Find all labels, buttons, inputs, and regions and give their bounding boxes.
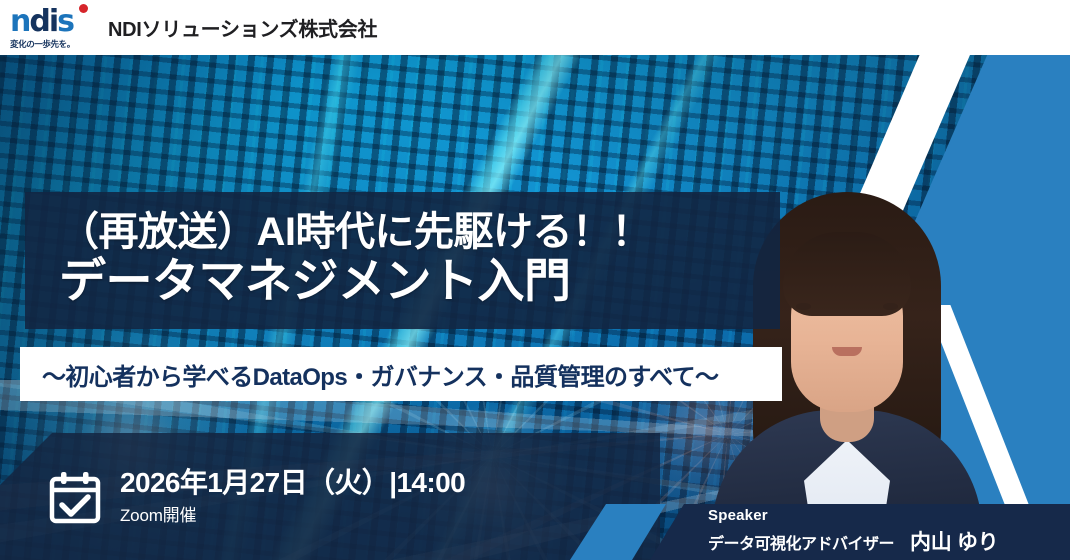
company-name: NDIソリューションズ株式会社	[108, 13, 377, 42]
title-line-2: データマネジメント入門	[59, 256, 758, 306]
event-platform: Zoom開催	[120, 501, 465, 526]
calendar-check-icon	[48, 470, 102, 524]
speaker-role: データ可視化アドバイザー	[708, 530, 894, 554]
logo-wordmark: ndis	[8, 7, 94, 37]
title-line-1: （再放送）AI時代に先駆ける！！	[59, 211, 758, 253]
speaker-name: 内山 ゆり	[910, 526, 998, 556]
ndis-logo[interactable]: ndis 変化の一歩先を。	[8, 5, 94, 51]
event-date-text: 2026年1月27日（火）|14:00 Zoom開催	[120, 467, 465, 526]
subtitle-text: 〜初心者から学べるDataOps・ガバナンス・品質管理のすべて〜	[42, 357, 718, 392]
title-band: （再放送）AI時代に先駆ける！！ データマネジメント入門	[25, 192, 780, 329]
logo-letter-i: i	[49, 4, 57, 39]
registered-mark-icon	[79, 4, 88, 13]
logo-letter-s: s	[57, 4, 73, 39]
logo-tagline: 変化の一歩先を。	[8, 40, 94, 49]
speaker-details: データ可視化アドバイザー 内山 ゆり	[708, 526, 1070, 556]
portrait-eye-left	[796, 303, 811, 310]
speaker-label: Speaker	[708, 508, 1070, 525]
page-header: ndis 変化の一歩先を。 NDIソリューションズ株式会社	[0, 0, 1070, 55]
hero-section: （再放送）AI時代に先駆ける！！ データマネジメント入門 〜初心者から学べるDa…	[0, 55, 1070, 560]
event-date-value: 2026年1月27日（火）|14:00	[120, 467, 465, 498]
event-date-bar: 2026年1月27日（火）|14:00 Zoom開催	[0, 433, 660, 560]
speaker-bar: Speaker データ可視化アドバイザー 内山 ゆり	[650, 504, 1070, 560]
portrait-mouth	[832, 347, 862, 356]
subtitle-band: 〜初心者から学べるDataOps・ガバナンス・品質管理のすべて〜	[20, 347, 782, 401]
logo-letter-d: d	[29, 4, 48, 39]
portrait-eye-right	[883, 303, 898, 310]
logo-letter-n: n	[10, 4, 29, 39]
webinar-banner: ndis 変化の一歩先を。 NDIソリューションズ株式会社	[0, 0, 1070, 560]
